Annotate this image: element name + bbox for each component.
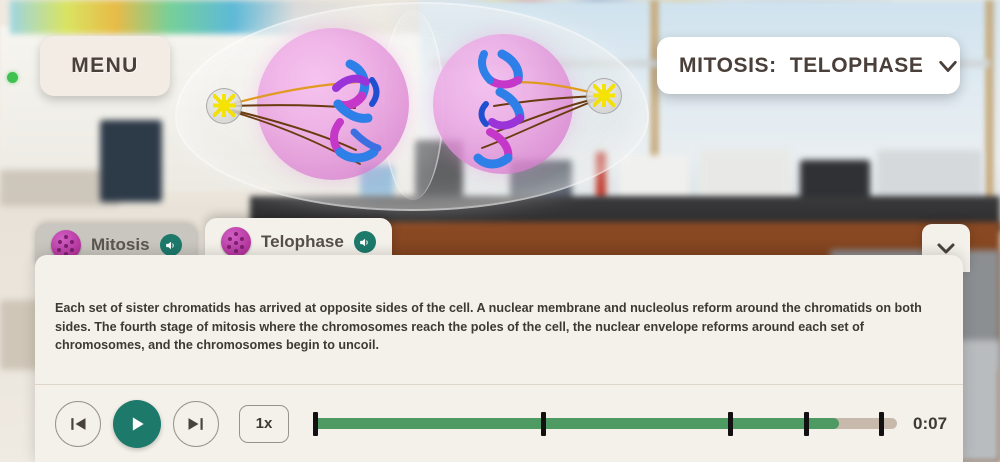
chapter-marker[interactable] xyxy=(313,412,318,436)
phase-dropdown-value: TELOPHASE xyxy=(790,54,924,78)
menu-button-label: MENU xyxy=(71,54,138,78)
menu-button[interactable]: MENU xyxy=(40,36,170,96)
next-button[interactable] xyxy=(173,401,219,447)
cell-icon xyxy=(221,227,251,257)
bg-equipment xyxy=(877,150,982,202)
chevron-down-icon xyxy=(937,55,959,77)
status-indicator-dot xyxy=(7,72,18,83)
app-stage: MENU MITOSIS: TELOPHASE Mitosis xyxy=(0,0,1000,462)
phase-dropdown-prefix: MITOSIS: xyxy=(679,54,777,78)
speaker-icon[interactable] xyxy=(160,234,182,256)
chapter-marker[interactable] xyxy=(879,412,884,436)
playback-speed-label: 1x xyxy=(256,415,273,432)
centrosome-right xyxy=(586,78,622,114)
playback-speed-button[interactable]: 1x xyxy=(239,405,289,443)
player-controls: 1x 0:07 xyxy=(35,385,963,462)
phase-description: Each set of sister chromatids has arrive… xyxy=(55,299,935,355)
tab-mitosis-label: Mitosis xyxy=(91,235,150,255)
elapsed-time-label: 0:07 xyxy=(913,414,963,434)
play-icon xyxy=(127,414,147,434)
skip-back-icon xyxy=(68,414,88,434)
progress-fill xyxy=(313,418,839,429)
bg-window-mullion xyxy=(985,0,994,205)
cell-visualization[interactable] xyxy=(150,0,670,222)
centrosome-left xyxy=(206,88,242,124)
skip-forward-icon xyxy=(186,414,206,434)
tab-telophase-label: Telophase xyxy=(261,232,344,252)
chapter-marker[interactable] xyxy=(541,412,546,436)
progress-bar[interactable] xyxy=(313,409,897,439)
chapter-marker[interactable] xyxy=(804,412,809,436)
play-button[interactable] xyxy=(113,400,161,448)
phase-dropdown[interactable]: MITOSIS: TELOPHASE xyxy=(657,37,960,94)
chapter-marker[interactable] xyxy=(728,412,733,436)
previous-button[interactable] xyxy=(55,401,101,447)
speaker-icon[interactable] xyxy=(354,231,376,253)
